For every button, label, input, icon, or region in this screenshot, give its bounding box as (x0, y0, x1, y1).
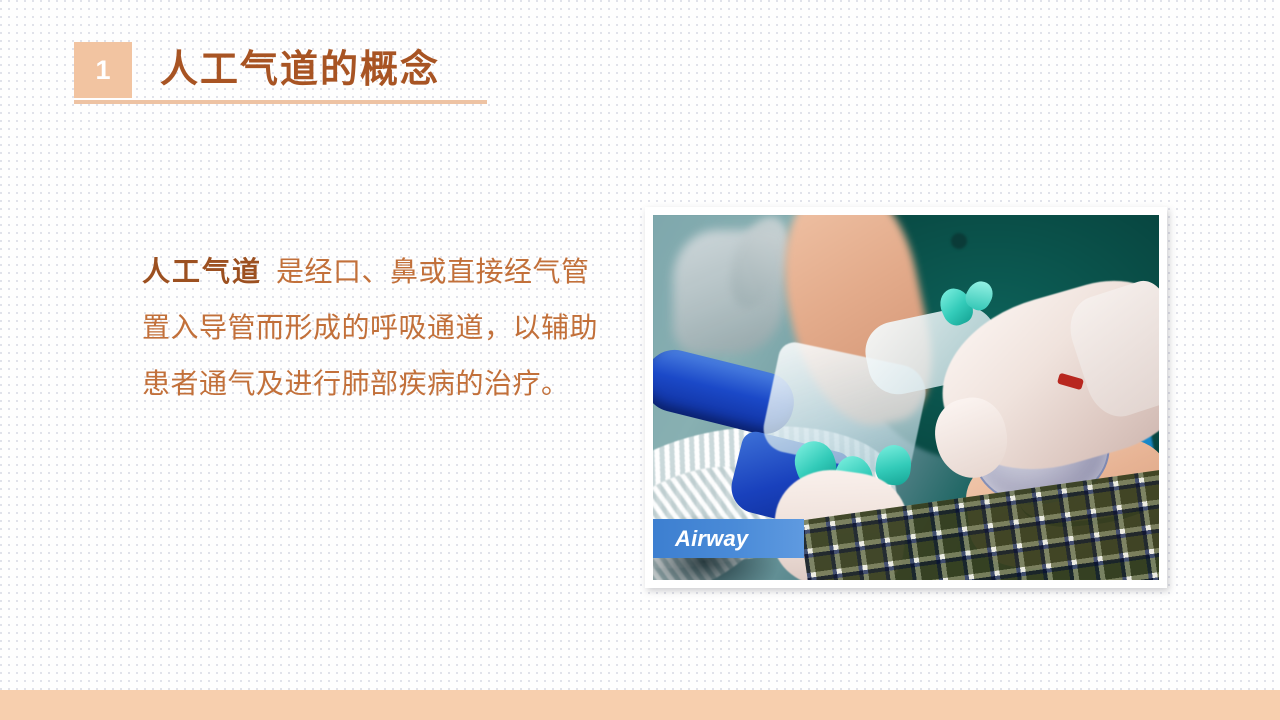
body-lead-term: 人工气道 (142, 256, 262, 287)
slide-title-row: 1 人工气道的概念 (74, 42, 440, 98)
photo-caption-banner: Airway (653, 519, 804, 558)
section-number-badge: 1 (74, 42, 132, 98)
section-number-label: 1 (95, 57, 110, 84)
photo-caption-label: Airway (653, 526, 748, 552)
body-paragraph: 人工气道是经口、鼻或直接经气管置入导管而形成的呼吸通道，以辅助患者通气及进行肺部… (142, 244, 612, 412)
photo-frame: Airway (645, 207, 1167, 588)
page-title: 人工气道的概念 (160, 51, 440, 89)
clinical-photo: Airway (653, 215, 1159, 580)
title-underline-divider (74, 100, 487, 104)
slide-root: 1 人工气道的概念 人工气道是经口、鼻或直接经气管置入导管而形成的呼吸通道，以辅… (0, 0, 1280, 720)
photo-scrub-button (951, 233, 967, 249)
footer-band (0, 690, 1280, 720)
